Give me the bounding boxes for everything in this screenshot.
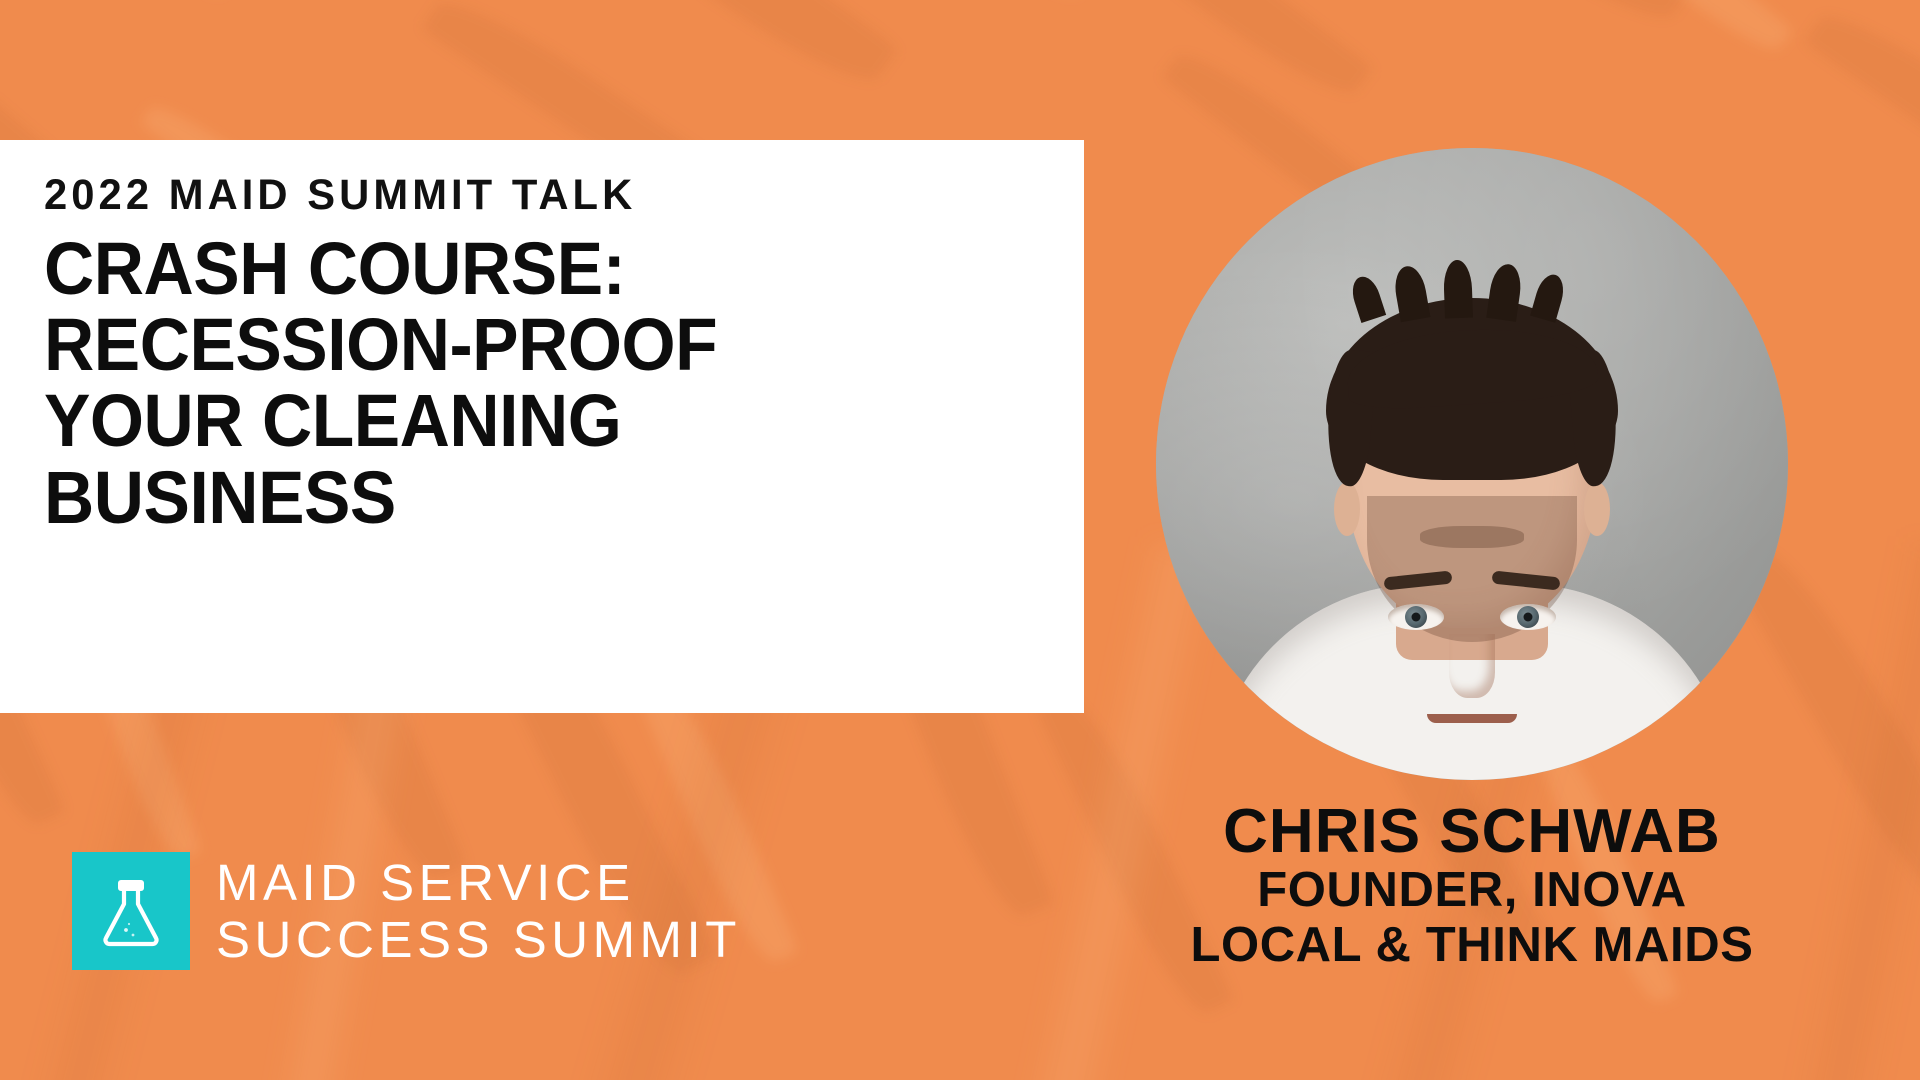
eyebrow-label: 2022 MAID SUMMIT TALK [44, 174, 1014, 217]
headline-line-3: YOUR CLEANING [44, 383, 984, 459]
speaker-caption: CHRIS SCHWAB FOUNDER, INOVA LOCAL & THIN… [1110, 800, 1834, 973]
summit-logo: MAID SERVICE SUCCESS SUMMIT [72, 852, 741, 970]
headline-line-2: RECESSION-PROOF [44, 307, 984, 383]
page-title: CRASH COURSE: RECESSION-PROOF YOUR CLEAN… [44, 231, 984, 536]
hair-spike-3 [1443, 260, 1473, 319]
iris-left [1405, 606, 1427, 628]
headline-line-1: CRASH COURSE: [44, 231, 984, 307]
eyebrow-left [1384, 570, 1453, 590]
eye-right [1500, 604, 1556, 630]
logo-line-1: MAID SERVICE [216, 854, 741, 911]
pupil-right [1524, 613, 1533, 622]
avatar [1156, 148, 1788, 780]
speaker-role-line-1: FOUNDER, INOVA [1110, 863, 1834, 918]
speaker-role-line-2: LOCAL & THINK MAIDS [1110, 918, 1834, 973]
headline-line-4: BUSINESS [44, 460, 984, 536]
pupil-left [1412, 613, 1421, 622]
nose [1449, 634, 1495, 698]
logo-wordmark: MAID SERVICE SUCCESS SUMMIT [216, 854, 741, 968]
hair-spike-1 [1348, 273, 1386, 323]
iris-right [1517, 606, 1539, 628]
speaker-role: FOUNDER, INOVA LOCAL & THINK MAIDS [1110, 863, 1834, 973]
eye-left [1388, 604, 1444, 630]
flask-icon [72, 852, 190, 970]
facial-features [1346, 316, 1598, 628]
logo-line-2: SUCCESS SUMMIT [216, 911, 741, 968]
eyebrow-right [1492, 570, 1561, 590]
title-card: 2022 MAID SUMMIT TALK CRASH COURSE: RECE… [0, 140, 1084, 713]
hair-spike-5 [1530, 271, 1568, 322]
portrait-subject [1156, 148, 1788, 780]
promo-graphic: 2022 MAID SUMMIT TALK CRASH COURSE: RECE… [0, 0, 1920, 1080]
mouth [1427, 714, 1517, 723]
speaker-name: CHRIS SCHWAB [1110, 800, 1834, 863]
